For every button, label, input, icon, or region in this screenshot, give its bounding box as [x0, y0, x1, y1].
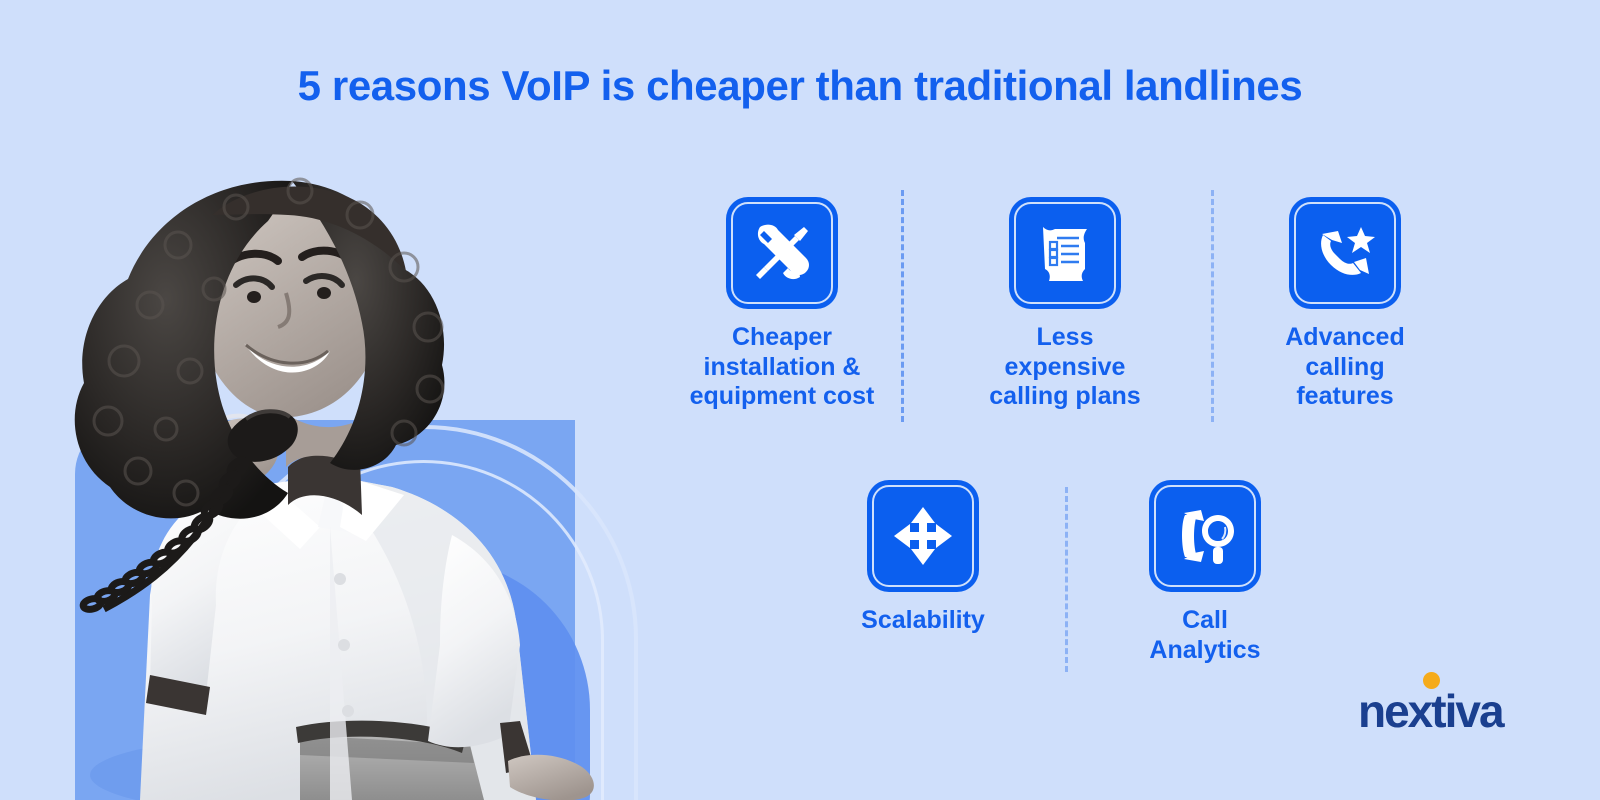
wrench-screwdriver-icon: [750, 221, 814, 285]
reason-less-expensive-plans: Less expensive calling plans: [950, 197, 1180, 412]
person-photo: [0, 175, 640, 800]
invoice-checklist-icon: [1035, 221, 1095, 285]
hero-illustration: [0, 175, 640, 800]
reason-advanced-features: Advanced calling features: [1230, 197, 1460, 412]
infographic-canvas: 5 reasons VoIP is cheaper than tradition…: [0, 0, 1600, 800]
reason-tile: [1009, 197, 1121, 309]
reason-label: Advanced calling features: [1230, 323, 1460, 412]
four-way-arrows-icon: [892, 505, 954, 567]
page-title: 5 reasons VoIP is cheaper than tradition…: [0, 62, 1600, 110]
reason-call-analytics: Call Analytics: [1090, 480, 1320, 665]
logo-wordmark: nextiva: [1358, 688, 1503, 734]
reason-tile: [726, 197, 838, 309]
reason-label: Call Analytics: [1090, 606, 1320, 665]
reason-cheaper-installation: Cheaper installation & equipment cost: [667, 197, 897, 412]
nextiva-logo[interactable]: nextiva: [1358, 672, 1508, 734]
phone-star-icon: [1313, 223, 1377, 283]
reason-tile: [1289, 197, 1401, 309]
reasons-grid: Cheaper installation & equipment cost: [620, 180, 1600, 700]
reason-tile: [867, 480, 979, 592]
reason-label: Cheaper installation & equipment cost: [667, 323, 897, 412]
reason-scalability: Scalability: [808, 480, 1038, 636]
reason-label: Less expensive calling plans: [950, 323, 1180, 412]
reason-tile: [1149, 480, 1261, 592]
phone-magnifier-icon: [1173, 505, 1237, 567]
reason-label: Scalability: [808, 606, 1038, 636]
